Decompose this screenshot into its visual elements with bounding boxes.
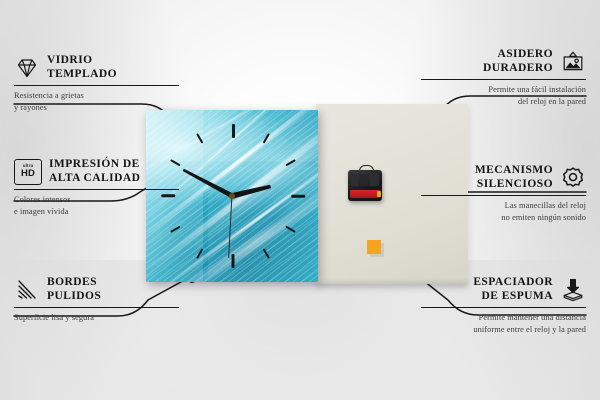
callout-description: Las manecillas del reloj no emiten ningú… xyxy=(421,200,586,224)
clock-mechanism xyxy=(348,170,382,201)
callout-desc-line1: Permite una fácil instalación xyxy=(488,85,586,94)
callout-title-line2: PULIDOS xyxy=(47,290,101,302)
callout-desc-line1: Superficie lisa y segura xyxy=(14,313,94,322)
callout-vidrio-templado: VIDRIO TEMPLADO Resistencia a grietas y … xyxy=(14,54,179,114)
clock-tick-7 xyxy=(196,248,203,259)
callout-description: Resistencia a grietas y rayones xyxy=(14,90,179,114)
callout-espaciador-de-espuma: ESPACIADOR DE ESPUMA Permite mantener un… xyxy=(421,276,586,336)
clock-tick-12 xyxy=(232,124,235,138)
callout-title-line2: SILENCIOSO xyxy=(477,178,553,190)
callout-divider xyxy=(14,307,179,308)
callout-title-line2: DE ESPUMA xyxy=(482,290,553,302)
callout-title-line1: ESPACIADOR xyxy=(473,276,553,288)
callout-desc-line2: del reloj en la pared xyxy=(518,97,586,106)
callout-title: MECANISMO SILENCIOSO xyxy=(475,164,553,191)
callout-divider xyxy=(421,195,586,196)
hanging-frame-icon xyxy=(560,49,586,75)
callout-description: Permite mantener una distancia uniforme … xyxy=(421,312,586,336)
ultra-hd-icon: ultra HD xyxy=(14,159,42,185)
polished-edge-icon xyxy=(14,277,40,303)
mechanism-detail xyxy=(351,174,379,186)
callout-title: ESPACIADOR DE ESPUMA xyxy=(473,276,553,303)
callout-title-line1: VIDRIO xyxy=(47,54,93,66)
foam-spacer-piece xyxy=(367,240,381,254)
clock-tick-6 xyxy=(232,254,235,268)
clock-hour-hand xyxy=(231,183,271,198)
callout-title: BORDES PULIDOS xyxy=(47,276,101,303)
callout-desc-line1: Colores intensos xyxy=(14,195,71,204)
mechanism-body xyxy=(348,170,382,201)
diamond-icon xyxy=(14,55,40,81)
clock-tick-8 xyxy=(170,226,181,233)
callout-description: Superficie lisa y segura xyxy=(14,312,179,324)
callout-mecanismo-silencioso: MECANISMO SILENCIOSO Las manecillas del … xyxy=(421,164,586,224)
callout-asidero-duradero: ASIDERO DURADERO Permite una fácil insta… xyxy=(421,48,586,108)
callout-desc-line2: y rayones xyxy=(14,103,47,112)
foam-spacer-icon xyxy=(560,277,586,303)
callout-desc-line2: no emiten ningún sonido xyxy=(501,213,586,222)
infographic-canvas: VIDRIO TEMPLADO Resistencia a grietas y … xyxy=(0,0,600,400)
clock-second-hand xyxy=(228,196,233,258)
callout-title-line1: ASIDERO xyxy=(497,48,553,60)
callout-title: ASIDERO DURADERO xyxy=(483,48,553,75)
callout-description: Permite una fácil instalación del reloj … xyxy=(421,84,586,108)
callout-divider xyxy=(421,79,586,80)
callout-title-line2: TEMPLADO xyxy=(47,68,117,80)
clock-tick-5 xyxy=(263,248,270,259)
callout-title-line1: BORDES xyxy=(47,276,97,288)
callout-desc-line2: e imagen vívida xyxy=(14,207,69,216)
callout-bordes-pulidos: BORDES PULIDOS Superficie lisa y segura xyxy=(14,276,179,324)
callout-desc-line2: uniforme entre el reloj y la pared xyxy=(473,325,586,334)
clock-center-cap xyxy=(229,193,235,199)
callout-divider xyxy=(421,307,586,308)
callout-desc-line1: Las manecillas del reloj xyxy=(505,201,586,210)
callout-title-line1: MECANISMO xyxy=(475,164,553,176)
clock-tick-2 xyxy=(285,159,296,166)
callout-desc-line1: Resistencia a grietas xyxy=(14,91,84,100)
mechanism-battery xyxy=(350,190,380,198)
clock-tick-11 xyxy=(196,133,203,144)
callout-description: Colores intensos e imagen vívida xyxy=(14,194,179,218)
callout-title-line2: DURADERO xyxy=(483,62,553,74)
clock-tick-4 xyxy=(285,226,296,233)
callout-title-line2: ALTA CALIDAD xyxy=(49,172,140,184)
callout-title: VIDRIO TEMPLADO xyxy=(47,54,117,81)
gear-icon xyxy=(560,165,586,191)
callout-desc-line1: Permite mantener una distancia xyxy=(479,313,586,322)
callout-impresion-alta-calidad: ultra HD IMPRESIÓN DE ALTA CALIDAD Color… xyxy=(14,158,179,218)
callout-title-line1: IMPRESIÓN DE xyxy=(49,158,140,170)
clock-tick-1 xyxy=(263,133,270,144)
callout-divider xyxy=(14,189,179,190)
clock-minute-hand xyxy=(181,168,233,199)
clock-tick-3 xyxy=(291,195,305,198)
callout-divider xyxy=(14,85,179,86)
callout-title: IMPRESIÓN DE ALTA CALIDAD xyxy=(49,158,140,185)
hd-icon-large-text: HD xyxy=(21,169,35,179)
